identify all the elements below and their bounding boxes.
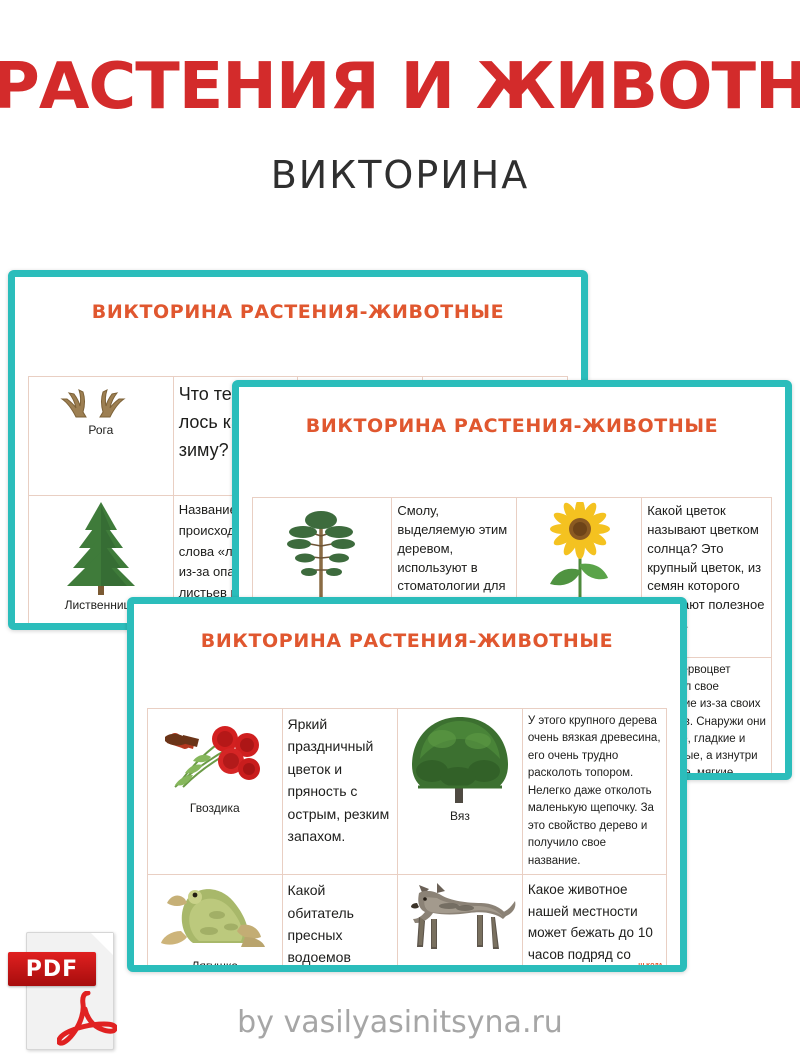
logo-line-1: Ш КОЛА xyxy=(638,963,672,970)
image-label: Вяз xyxy=(403,809,517,823)
image-label: Волк xyxy=(403,967,517,972)
sunflower-image xyxy=(538,502,620,602)
card-1-title: ВИКТОРИНА РАСТЕНИЯ-ЖИВОТНЫЕ xyxy=(15,301,581,323)
carnation-image xyxy=(159,713,271,799)
image-label: Рога xyxy=(34,423,168,437)
byline-text: by vasilyasinitsyna.ru xyxy=(0,1005,800,1040)
cell-image-elm: Вяз xyxy=(397,709,522,875)
card-3-question-table: Гвоздика Яркий праздничный цветок и прян… xyxy=(147,708,667,972)
cell-question-frog: Какой обитатель пресных водоемов никогда… xyxy=(282,875,397,972)
cell-question-elm: У этого крупного дерева очень вязкая дре… xyxy=(522,709,666,875)
wolf-image xyxy=(403,879,519,965)
pdf-label-band: PDF xyxy=(8,952,96,986)
cell-question-carnation: Яркий праздничный цветок и пряность с ос… xyxy=(282,709,397,875)
larch-tree-image xyxy=(61,500,141,596)
publisher-logo: Ш КОЛА Б УДУЩИХ Я ИЦИСТОВ xyxy=(743,773,777,780)
card-2-title: ВИКТОРИНА РАСТЕНИЯ-ЖИВОТНЫЕ xyxy=(239,415,785,437)
table-row: Гвоздика Яркий праздничный цветок и прян… xyxy=(148,709,667,875)
publisher-logo: Ш КОЛА Б УДУЩИХ Я ИЦИСТОВ xyxy=(638,963,672,972)
logo-line-1: Ш КОЛА xyxy=(743,773,777,780)
antlers-image xyxy=(58,381,144,421)
pine-tree-image xyxy=(285,502,359,610)
quiz-card-3[interactable]: ВИКТОРИНА РАСТЕНИЯ-ЖИВОТНЫЕ xyxy=(127,597,687,972)
elm-tree-image xyxy=(408,713,512,807)
image-label: Гвоздика xyxy=(153,801,277,815)
cell-question-wolf: Какое животное нашей местности может беж… xyxy=(522,875,666,972)
logo-line-2: Б УДУЩИХ xyxy=(638,971,672,973)
card-3-table-wrap: Гвоздика Яркий праздничный цветок и прян… xyxy=(147,708,667,972)
cell-image-carnation: Гвоздика xyxy=(148,709,283,875)
page-title: РАСТЕНИЯ И ЖИВОТНЫЕ xyxy=(0,55,800,119)
image-label: Лягушка xyxy=(153,959,277,972)
card-3-title: ВИКТОРИНА РАСТЕНИЯ-ЖИВОТНЫЕ xyxy=(134,630,680,652)
frog-image xyxy=(159,879,271,957)
table-row: Лягушка Какой обитатель пресных водоемов… xyxy=(148,875,667,972)
cell-image-wolf: Волк xyxy=(397,875,522,972)
cell-image-frog: Лягушка xyxy=(148,875,283,972)
hero-header: РАСТЕНИЯ И ЖИВОТНЫЕ ВИКТОРИНА xyxy=(0,0,800,197)
cell-image-antlers: Рога xyxy=(29,377,174,496)
page-subtitle: ВИКТОРИНА xyxy=(0,153,800,197)
